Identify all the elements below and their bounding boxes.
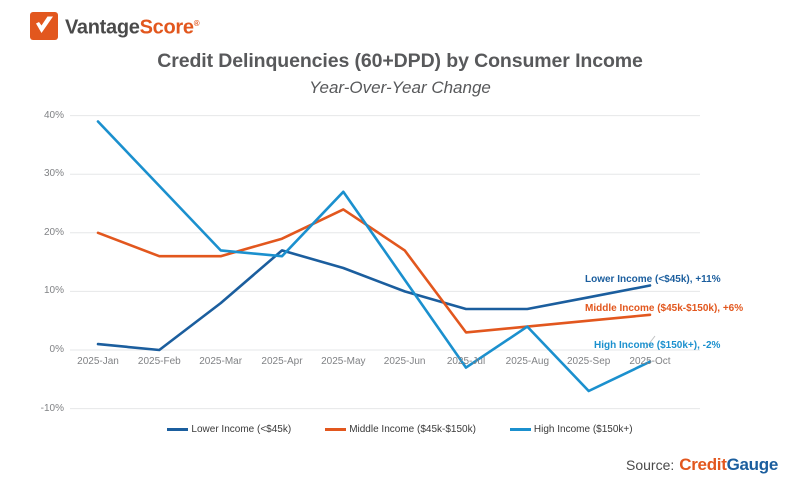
annotation-lower-income-endpoint: Lower Income (<$45k), +11% — [585, 274, 721, 285]
legend-item-label: Lower Income (<$45k) — [191, 424, 291, 435]
y-axis-tick-label: 20% — [18, 228, 64, 238]
source-credit: Source: CreditGauge — [626, 455, 778, 475]
legend-swatch-icon — [167, 428, 188, 431]
y-axis-tick-label: -10% — [18, 404, 64, 414]
source-word-gauge: Gauge — [727, 455, 778, 474]
legend-item-label: High Income ($150k+) — [534, 424, 633, 435]
source-word-credit: Credit — [679, 455, 726, 474]
legend-item[interactable]: High Income ($150k+) — [510, 424, 633, 435]
x-axis-tick-label: 2025-Oct — [610, 357, 690, 367]
y-axis-tick-label: 0% — [18, 345, 64, 355]
chart-legend: Lower Income (<$45k)Middle Income ($45k-… — [0, 424, 800, 435]
creditgauge-wordmark: CreditGauge — [679, 455, 778, 475]
legend-swatch-icon — [510, 428, 531, 431]
legend-swatch-icon — [325, 428, 346, 431]
y-axis-tick-label: 10% — [18, 286, 64, 296]
annotation-high-income-endpoint: High Income ($150k+), -2% — [594, 340, 720, 351]
annotation-middle-income-endpoint: Middle Income ($45k-$150k), +6% — [585, 303, 743, 314]
chart-page: VantageScore® Credit Delinquencies (60+D… — [0, 0, 800, 484]
legend-item[interactable]: Middle Income ($45k-$150k) — [325, 424, 476, 435]
chart-series-lines — [98, 122, 650, 392]
chart-plot-area: -10%0%10%20%30%40% 2025-Jan2025-Feb2025-… — [0, 0, 800, 484]
y-axis-tick-label: 30% — [18, 169, 64, 179]
source-label: Source: — [626, 457, 674, 473]
legend-item[interactable]: Lower Income (<$45k) — [167, 424, 291, 435]
legend-item-label: Middle Income ($45k-$150k) — [349, 424, 476, 435]
series-line — [98, 250, 650, 350]
series-line — [98, 209, 650, 332]
y-axis-tick-label: 40% — [18, 111, 64, 121]
